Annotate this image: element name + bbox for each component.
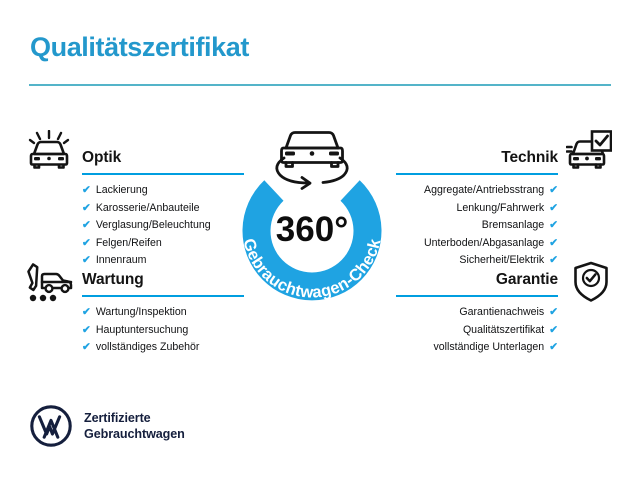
list-item-label: vollständige Unterlagen bbox=[433, 339, 544, 357]
check-icon: ✔ bbox=[549, 339, 558, 357]
list-item-label: Lenkung/Fahrwerk bbox=[456, 200, 544, 218]
list-item: ✔ Karosserie/Anbauteile bbox=[82, 200, 244, 218]
list-item: ✔ Wartung/Inspektion bbox=[82, 304, 244, 322]
vw-logo-icon bbox=[30, 405, 72, 447]
footer-line-2: Gebrauchtwagen bbox=[84, 426, 185, 442]
section-title: Optik bbox=[82, 149, 121, 167]
list-item: Garantienachweis ✔ bbox=[396, 304, 558, 322]
certificate-page: Qualitätszertifikat bbox=[0, 0, 640, 480]
check-icon: ✔ bbox=[82, 200, 91, 218]
list-item-label: vollständiges Zubehör bbox=[96, 339, 200, 357]
footer-line-1: Zertifizierte bbox=[84, 410, 185, 426]
checklist-garantie: Garantienachweis ✔ Qualitätszertifikat ✔… bbox=[396, 304, 558, 357]
car-shine-icon bbox=[28, 130, 72, 175]
footer-text: Zertifizierte Gebrauchtwagen bbox=[84, 410, 185, 442]
list-item: Qualitätszertifikat ✔ bbox=[396, 322, 558, 340]
section-garantie: Garantie Garantienachweis ✔ Qualitätszer… bbox=[396, 264, 558, 357]
360-badge: Gebrauchtwagen-Check 360° bbox=[222, 118, 402, 318]
section-header: Optik bbox=[82, 142, 244, 168]
footer-brand: Zertifizierte Gebrauchtwagen bbox=[30, 405, 185, 447]
section-wartung: Wartung ✔ Wartung/Inspektion ✔ Hauptunte… bbox=[82, 264, 244, 357]
list-item-label: Felgen/Reifen bbox=[96, 235, 162, 253]
check-icon: ✔ bbox=[549, 235, 558, 253]
check-icon: ✔ bbox=[82, 322, 91, 340]
shield-check-icon bbox=[572, 261, 610, 308]
list-item-label: Wartung/Inspektion bbox=[96, 304, 187, 322]
list-item: Bremsanlage ✔ bbox=[396, 217, 558, 235]
check-icon: ✔ bbox=[82, 304, 91, 322]
check-icon: ✔ bbox=[82, 235, 91, 253]
section-underline bbox=[82, 173, 244, 175]
title-divider bbox=[29, 84, 611, 86]
check-icon: ✔ bbox=[82, 339, 91, 357]
list-item: ✔ Verglasung/Beleuchtung bbox=[82, 217, 244, 235]
list-item: Aggregate/Antriebsstrang ✔ bbox=[396, 182, 558, 200]
checklist-wartung: ✔ Wartung/Inspektion ✔ Hauptuntersuchung… bbox=[82, 304, 244, 357]
wrench-car-icon bbox=[26, 261, 74, 308]
list-item: ✔ Lackierung bbox=[82, 182, 244, 200]
list-item-label: Hauptuntersuchung bbox=[96, 322, 188, 340]
list-item-label: Lackierung bbox=[96, 182, 148, 200]
list-item-label: Bremsanlage bbox=[482, 217, 544, 235]
list-item: ✔ Hauptuntersuchung bbox=[82, 322, 244, 340]
section-title: Technik bbox=[501, 149, 558, 167]
list-item-label: Verglasung/Beleuchtung bbox=[96, 217, 211, 235]
car-checkbox-icon bbox=[566, 130, 612, 175]
checklist-technik: Aggregate/Antriebsstrang ✔ Lenkung/Fahrw… bbox=[396, 182, 558, 270]
section-underline bbox=[396, 295, 558, 297]
check-icon: ✔ bbox=[549, 217, 558, 235]
list-item-label: Unterboden/Abgasanlage bbox=[424, 235, 544, 253]
page-title: Qualitätszertifikat bbox=[30, 32, 249, 63]
list-item-label: Garantienachweis bbox=[459, 304, 544, 322]
list-item: Unterboden/Abgasanlage ✔ bbox=[396, 235, 558, 253]
section-header: Wartung bbox=[82, 264, 244, 290]
list-item-label: Qualitätszertifikat bbox=[463, 322, 544, 340]
check-icon: ✔ bbox=[82, 182, 91, 200]
list-item-label: Karosserie/Anbauteile bbox=[96, 200, 200, 218]
check-icon: ✔ bbox=[549, 304, 558, 322]
list-item: Lenkung/Fahrwerk ✔ bbox=[396, 200, 558, 218]
section-title: Garantie bbox=[496, 271, 558, 289]
checklist-optik: ✔ Lackierung ✔ Karosserie/Anbauteile ✔ V… bbox=[82, 182, 244, 270]
section-technik: Technik Aggregate/Antriebsstrang ✔ Lenku… bbox=[396, 142, 558, 270]
check-icon: ✔ bbox=[82, 217, 91, 235]
badge-center-label: 360° bbox=[276, 210, 348, 249]
section-underline bbox=[82, 295, 244, 297]
section-underline bbox=[396, 173, 558, 175]
check-icon: ✔ bbox=[549, 322, 558, 340]
list-item: ✔ Felgen/Reifen bbox=[82, 235, 244, 253]
check-icon: ✔ bbox=[549, 182, 558, 200]
check-icon: ✔ bbox=[549, 200, 558, 218]
list-item: ✔ vollständiges Zubehör bbox=[82, 339, 244, 357]
section-header: Garantie bbox=[396, 264, 558, 290]
list-item: vollständige Unterlagen ✔ bbox=[396, 339, 558, 357]
section-header: Technik bbox=[396, 142, 558, 168]
section-optik: Optik ✔ Lackierung ✔ Karosserie/Anbautei… bbox=[82, 142, 244, 270]
list-item-label: Aggregate/Antriebsstrang bbox=[424, 182, 544, 200]
section-title: Wartung bbox=[82, 271, 144, 289]
car-rotate-icon bbox=[277, 133, 347, 189]
